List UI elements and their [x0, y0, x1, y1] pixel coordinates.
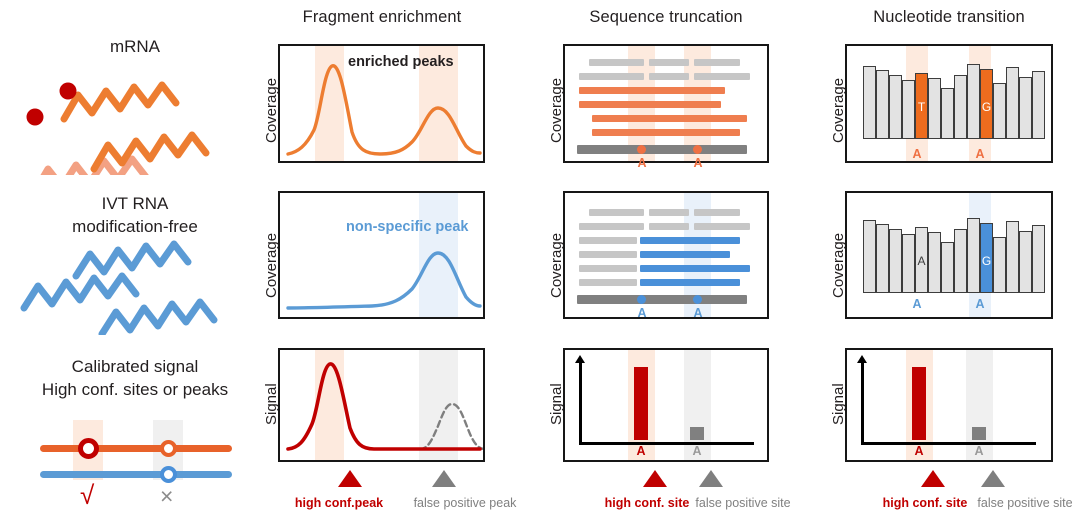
signal-bar-high-conf [912, 367, 926, 440]
read-mrna [592, 129, 740, 136]
read-ivt [640, 265, 750, 272]
nbar-letter: T [916, 100, 927, 114]
read-segment [649, 59, 689, 66]
legend-caption-false-positive-site: false positive site [945, 496, 1080, 510]
legend-caption-high-conf-peak: high conf.peak [275, 496, 403, 510]
annotation-enriched-peaks: enriched peaks [348, 54, 454, 70]
coverage-bar [1006, 67, 1019, 139]
annotation-non-specific-peak: non-specific peak [346, 219, 468, 235]
read-segment [579, 265, 637, 272]
coverage-bar [993, 83, 1006, 139]
column-title-sequence-truncation: Sequence truncation [563, 8, 769, 27]
row-label-calibrated-line1: Calibrated signal [20, 355, 250, 378]
base-label-true-site: A [626, 444, 656, 458]
coverage-curve-ivt [280, 193, 483, 317]
read-segment [589, 209, 644, 216]
read-segment [649, 209, 689, 216]
base-label-site1: A [626, 306, 658, 320]
coverage-bar [876, 224, 889, 293]
site-marker-2 [693, 145, 702, 154]
legend-triangle-false-positive-peak [432, 470, 456, 487]
coverage-bar [1006, 221, 1019, 293]
read-segment [579, 251, 637, 258]
y-axis-arrow-icon [857, 355, 867, 363]
signal-curves [280, 350, 483, 460]
legend-triangle-high-conf-peak [338, 470, 362, 487]
y-axis [579, 362, 582, 444]
coverage-bar [967, 218, 980, 293]
site-ring-false-ivt [160, 466, 177, 483]
nbar-letter: G [981, 100, 992, 114]
coverage-bar [941, 88, 954, 139]
row-label-mrna: mRNA [30, 35, 240, 58]
legend-caption-false-positive-site: false positive site [663, 496, 823, 510]
coverage-bar-transition-2: G [980, 223, 993, 293]
legend-triangle-false-positive-site [699, 470, 723, 487]
row-label-ivt-line2: modification-free [30, 215, 240, 238]
coverage-bar [928, 232, 941, 293]
base-label-site1: A [902, 147, 932, 161]
coverage-bar [928, 78, 941, 139]
cross-icon: × [160, 483, 173, 509]
coverage-bar [954, 229, 967, 293]
read-segment [579, 223, 644, 230]
read-segment [579, 237, 637, 244]
coverage-bar [863, 220, 876, 293]
read-mrna [579, 101, 721, 108]
read-mrna [579, 87, 725, 94]
ivt-squiggles [10, 240, 240, 335]
base-label-site1: A [626, 156, 658, 170]
coverage-bar [1032, 71, 1045, 139]
coverage-bar [1019, 231, 1032, 293]
mrna-squiggles [10, 75, 240, 175]
base-label-site2: A [682, 306, 714, 320]
calibrated-signal-cartoon: √ × [20, 420, 250, 510]
coverage-bar [1019, 77, 1032, 139]
read-segment [694, 209, 740, 216]
figure-canvas: Fragment enrichment Sequence truncation … [0, 0, 1080, 528]
coverage-bar-transition-1: T [915, 73, 928, 139]
check-icon: √ [80, 482, 94, 508]
site-marker-2 [693, 295, 702, 304]
coverage-bar [967, 64, 980, 139]
coverage-bar [889, 229, 902, 293]
base-label-false-site: A [682, 444, 712, 458]
x-axis [579, 442, 754, 445]
panel-calibrated-site-signal-truncation: A A [563, 348, 769, 462]
coverage-bar [863, 66, 876, 139]
legend-triangle-high-conf-site [921, 470, 945, 487]
coverage-bar [876, 70, 889, 139]
y-axis-arrow-icon [575, 355, 585, 363]
coverage-bar [954, 75, 967, 139]
legend-triangle-high-conf-site [643, 470, 667, 487]
read-segment [649, 73, 689, 80]
coverage-bar [1032, 225, 1045, 293]
panel-mrna-nucleotide-transition: T G A A [845, 44, 1053, 163]
x-axis [861, 442, 1036, 445]
site-ring-false-mrna [160, 440, 177, 457]
read-segment [694, 59, 740, 66]
column-title-fragment-enrichment: Fragment enrichment [278, 8, 486, 27]
track-mrna [40, 445, 232, 452]
base-label-site2: A [965, 147, 995, 161]
read-ivt [640, 279, 740, 286]
read-mrna [592, 115, 747, 122]
reference-line [577, 145, 747, 154]
signal-bar-false-positive [690, 427, 704, 440]
panel-ivt-sequence-truncation: A A [563, 191, 769, 319]
coverage-bar [889, 75, 902, 139]
site-marker-1 [637, 295, 646, 304]
read-ivt [640, 251, 730, 258]
column-title-nucleotide-transition: Nucleotide transition [845, 8, 1053, 27]
base-label-site1: A [902, 297, 932, 311]
coverage-bars-ivt: A G [863, 216, 1038, 293]
read-segment [579, 73, 644, 80]
track-ivt [40, 471, 232, 478]
signal-bar-false-positive [972, 427, 986, 440]
coverage-bar-transition-2: G [980, 69, 993, 139]
base-label-site2: A [965, 297, 995, 311]
reference-line [577, 295, 747, 304]
panel-calibrated-peak-signal [278, 348, 485, 462]
site-marker-1 [637, 145, 646, 154]
base-label-false-site: A [964, 444, 994, 458]
read-segment [694, 73, 750, 80]
panel-calibrated-site-signal-transition: A A [845, 348, 1053, 462]
row-label-ivt-line1: IVT RNA [30, 192, 240, 215]
site-ring-true-mrna [78, 438, 99, 459]
signal-bar-high-conf [634, 367, 648, 440]
legend-triangle-false-positive-site [981, 470, 1005, 487]
base-label-true-site: A [904, 444, 934, 458]
nbar-letter: G [981, 254, 992, 268]
row-label-calibrated-line2: High conf. sites or peaks [20, 378, 250, 401]
read-segment [579, 279, 637, 286]
read-segment [649, 223, 689, 230]
legend-caption-false-positive-peak: false positive peak [385, 496, 545, 510]
panel-ivt-fragment-enrichment: non-specific peak [278, 191, 485, 319]
read-ivt [640, 237, 740, 244]
coverage-bar [993, 237, 1006, 293]
panel-mrna-sequence-truncation: A A [563, 44, 769, 163]
coverage-bar [902, 234, 915, 293]
read-segment [589, 59, 644, 66]
coverage-bars-mrna: T G [863, 62, 1038, 139]
read-segment [694, 223, 750, 230]
coverage-bar [941, 242, 954, 293]
nbar-letter: A [916, 254, 927, 268]
base-label-site2: A [682, 156, 714, 170]
panel-mrna-fragment-enrichment: enriched peaks [278, 44, 485, 163]
coverage-bar [902, 80, 915, 139]
panel-ivt-nucleotide-transition: A G A A [845, 191, 1053, 319]
coverage-bar-site1: A [915, 227, 928, 293]
y-axis [861, 362, 864, 444]
